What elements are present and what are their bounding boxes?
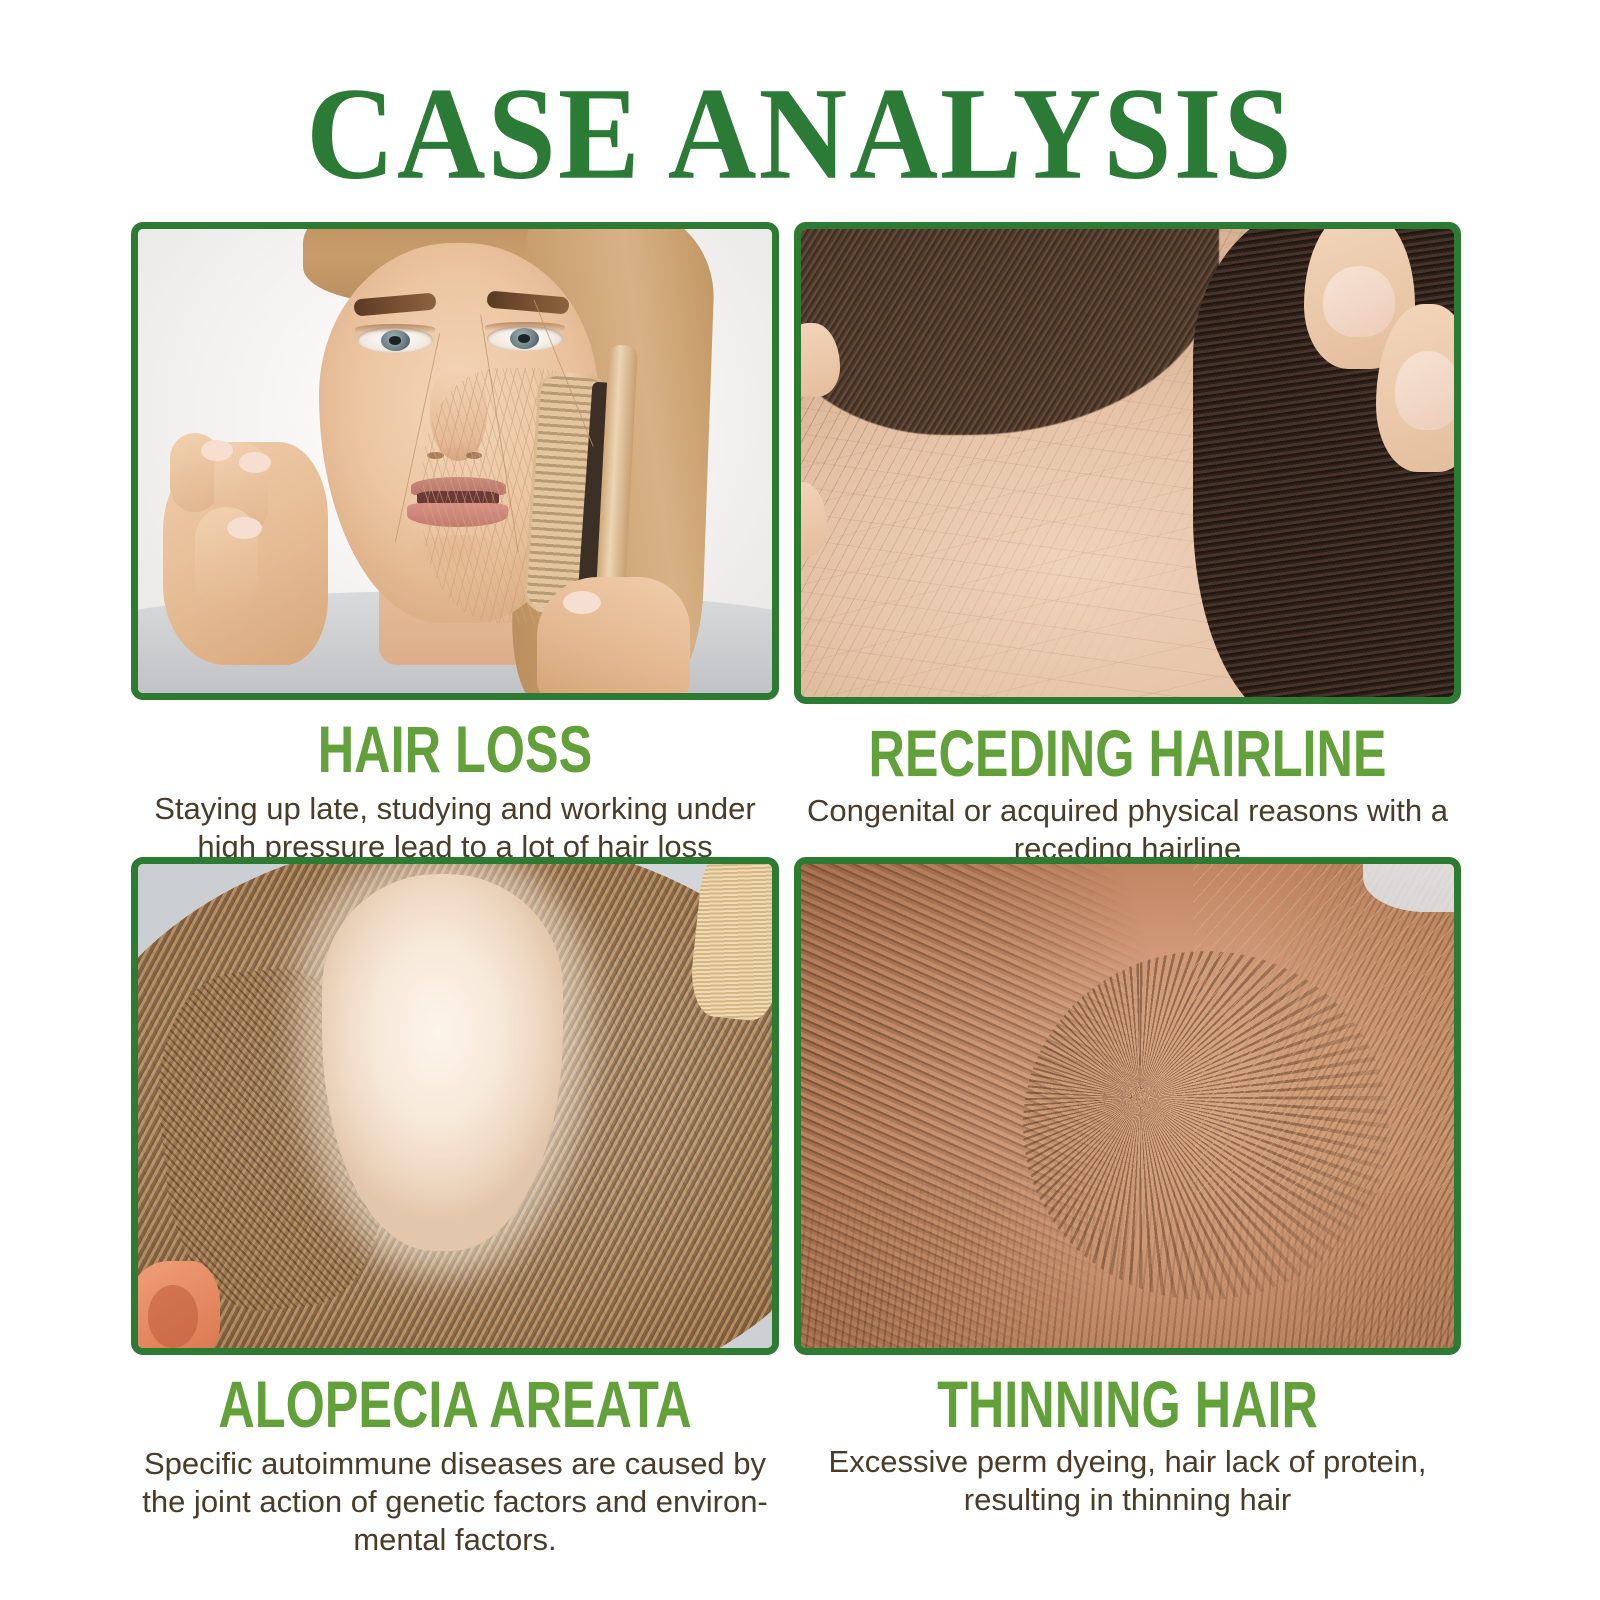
photo-alopecia-areata xyxy=(138,864,772,1348)
case-caption: Staying up late, studying and working un… xyxy=(131,790,779,866)
photo-receding-hairline xyxy=(801,229,1454,697)
photo-frame xyxy=(794,857,1461,1355)
case-heading: THINNING HAIR xyxy=(827,1369,1427,1440)
case-card-thinning-hair[interactable]: THINNING HAIR Excessive perm dyeing, hai… xyxy=(794,857,1461,1519)
case-heading: RECEDING HAIRLINE xyxy=(827,718,1427,789)
case-caption: Specific autoimmune diseases are caused … xyxy=(131,1445,779,1558)
case-grid: HAIR LOSS Staying up late, studying and … xyxy=(0,0,1600,1600)
case-heading: ALOPECIA AREATA xyxy=(163,1369,746,1440)
photo-frame xyxy=(131,857,779,1355)
photo-frame xyxy=(794,222,1461,704)
case-caption: Excessive perm dyeing, hair lack of prot… xyxy=(794,1443,1461,1519)
case-heading: HAIR LOSS xyxy=(163,714,746,785)
photo-frame xyxy=(131,222,779,700)
case-card-hair-loss[interactable]: HAIR LOSS Staying up late, studying and … xyxy=(131,222,779,866)
photo-thinning-hair xyxy=(801,864,1454,1348)
photo-hair-loss xyxy=(138,229,772,693)
case-card-receding-hairline[interactable]: RECEDING HAIRLINE Congenital or acquired… xyxy=(794,222,1461,868)
case-card-alopecia-areata[interactable]: ALOPECIA AREATA Specific autoimmune dise… xyxy=(131,857,779,1559)
